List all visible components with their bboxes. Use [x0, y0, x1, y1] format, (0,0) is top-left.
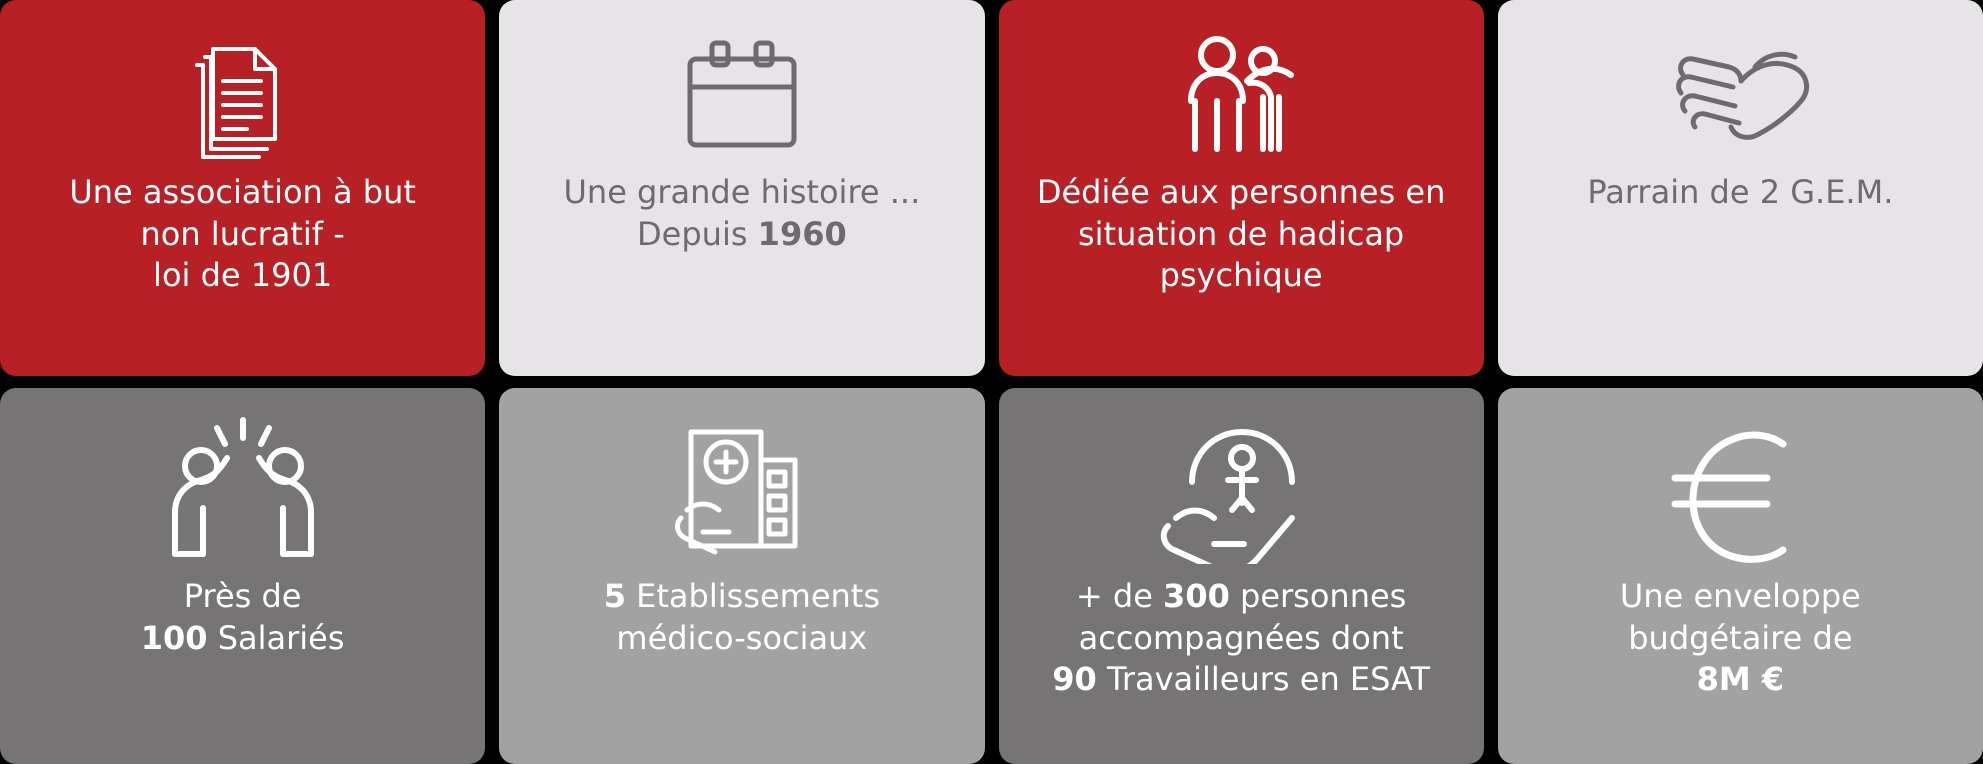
card-association-but-non-lucratif: Une association à but non lucratif - loi…	[0, 0, 485, 376]
card-5-etablissements: 5 Etablissements médico-sociaux	[499, 388, 984, 764]
document-stack-icon	[183, 26, 303, 166]
card-300-personnes-accompagnees: + de 300 personnes accompagnées dont 90 …	[999, 388, 1484, 764]
handshake-icon	[1655, 26, 1825, 166]
card-grande-histoire: Une grande histoire ... Depuis 1960	[499, 0, 984, 376]
card-parrain-gem: Parrain de 2 G.E.M.	[1498, 0, 1983, 376]
infographic-grid: Une association à but non lucratif - loi…	[0, 0, 1983, 764]
medical-building-hand-icon	[657, 414, 827, 564]
card-caption: Une grande histoire ... Depuis 1960	[557, 172, 926, 255]
card-caption: Près de 100 Salariés	[135, 576, 351, 659]
card-caption: Une association à but non lucratif - loi…	[63, 172, 422, 297]
card-caption: Parrain de 2 G.E.M.	[1581, 172, 1899, 214]
euro-sign-icon	[1655, 414, 1825, 564]
card-enveloppe-budgetaire: Une enveloppe budgétaire de 8M €	[1498, 388, 1983, 764]
two-people-support-icon	[1151, 26, 1331, 166]
card-caption: Dédiée aux personnes en situation de had…	[1031, 172, 1452, 297]
card-dediee-personnes-handicap: Dédiée aux personnes en situation de had…	[999, 0, 1484, 376]
card-caption: + de 300 personnes accompagnées dont 90 …	[1046, 576, 1436, 701]
card-caption: 5 Etablissements médico-sociaux	[598, 576, 886, 659]
card-caption: Une enveloppe budgétaire de 8M €	[1614, 576, 1867, 701]
card-pres-de-100-salaries: Près de 100 Salariés	[0, 388, 485, 764]
calendar-icon	[672, 26, 812, 166]
high-five-people-icon	[143, 414, 343, 564]
person-in-hand-care-icon	[1146, 414, 1336, 564]
